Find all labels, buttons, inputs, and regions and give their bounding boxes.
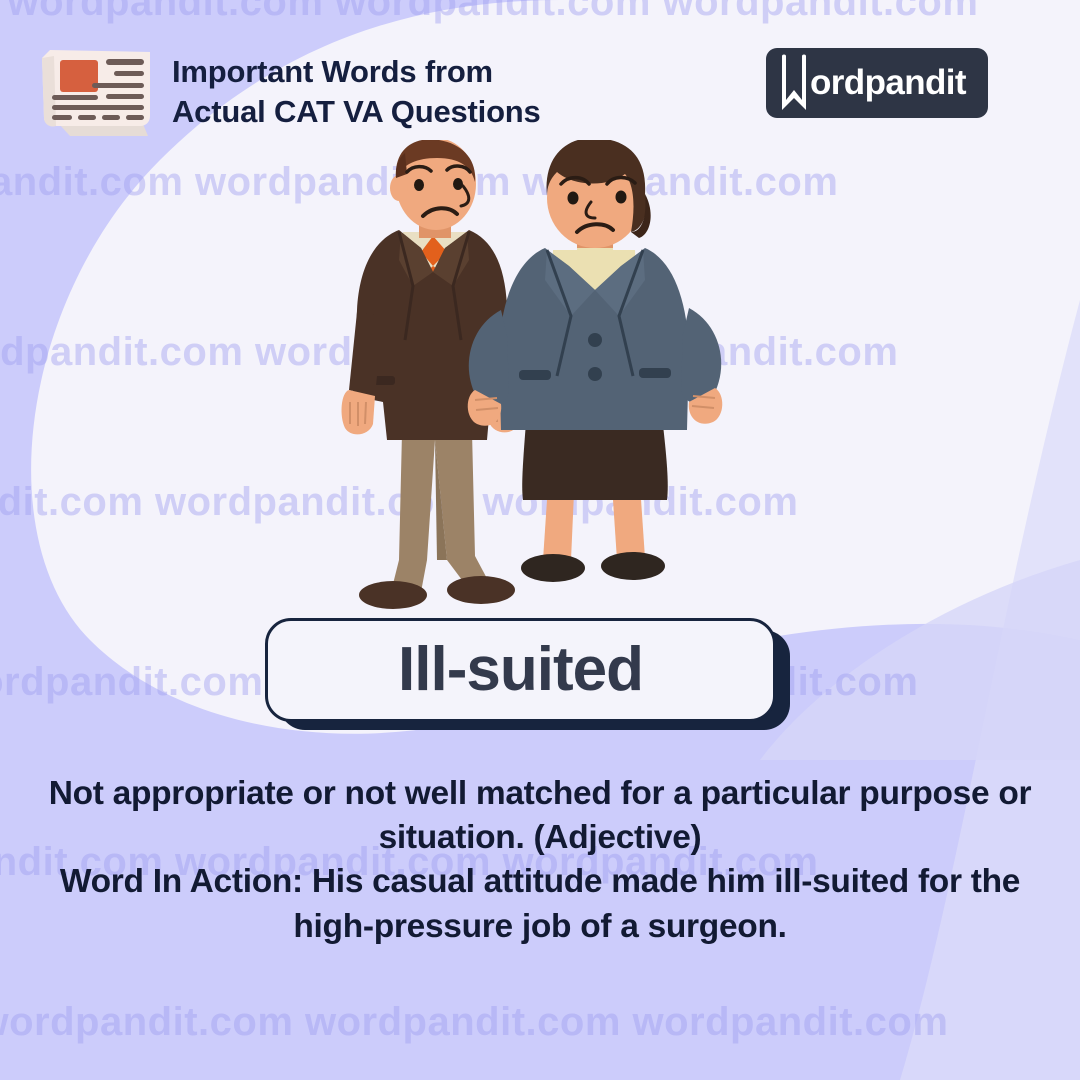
figure-woman bbox=[468, 140, 723, 582]
definition-block: Not appropriate or not well matched for … bbox=[40, 772, 1040, 949]
bookmark-w-icon bbox=[778, 54, 812, 112]
word-card: Ill-suited bbox=[265, 618, 790, 730]
illustration-two-people bbox=[295, 140, 765, 620]
word-card-graphic: wordpandit.com wordpandit.com wordpandit… bbox=[0, 0, 1080, 1080]
definition-meaning: Not appropriate or not well matched for … bbox=[40, 772, 1040, 860]
word-card-surface: Ill-suited bbox=[265, 618, 776, 722]
page-title-line-1: Important Words from bbox=[172, 52, 541, 92]
page-title: Important Words from Actual CAT VA Quest… bbox=[172, 52, 541, 131]
header: Important Words from Actual CAT VA Quest… bbox=[0, 0, 1080, 150]
definition-usage: Word In Action: His casual attitude made… bbox=[40, 860, 1040, 948]
vocabulary-word: Ill-suited bbox=[398, 639, 643, 701]
brand-name: ordpandit bbox=[810, 63, 982, 103]
page-title-line-2: Actual CAT VA Questions bbox=[172, 92, 541, 132]
wordpandit-logo[interactable]: ordpandit bbox=[766, 48, 988, 118]
newspaper-icon bbox=[30, 38, 165, 143]
